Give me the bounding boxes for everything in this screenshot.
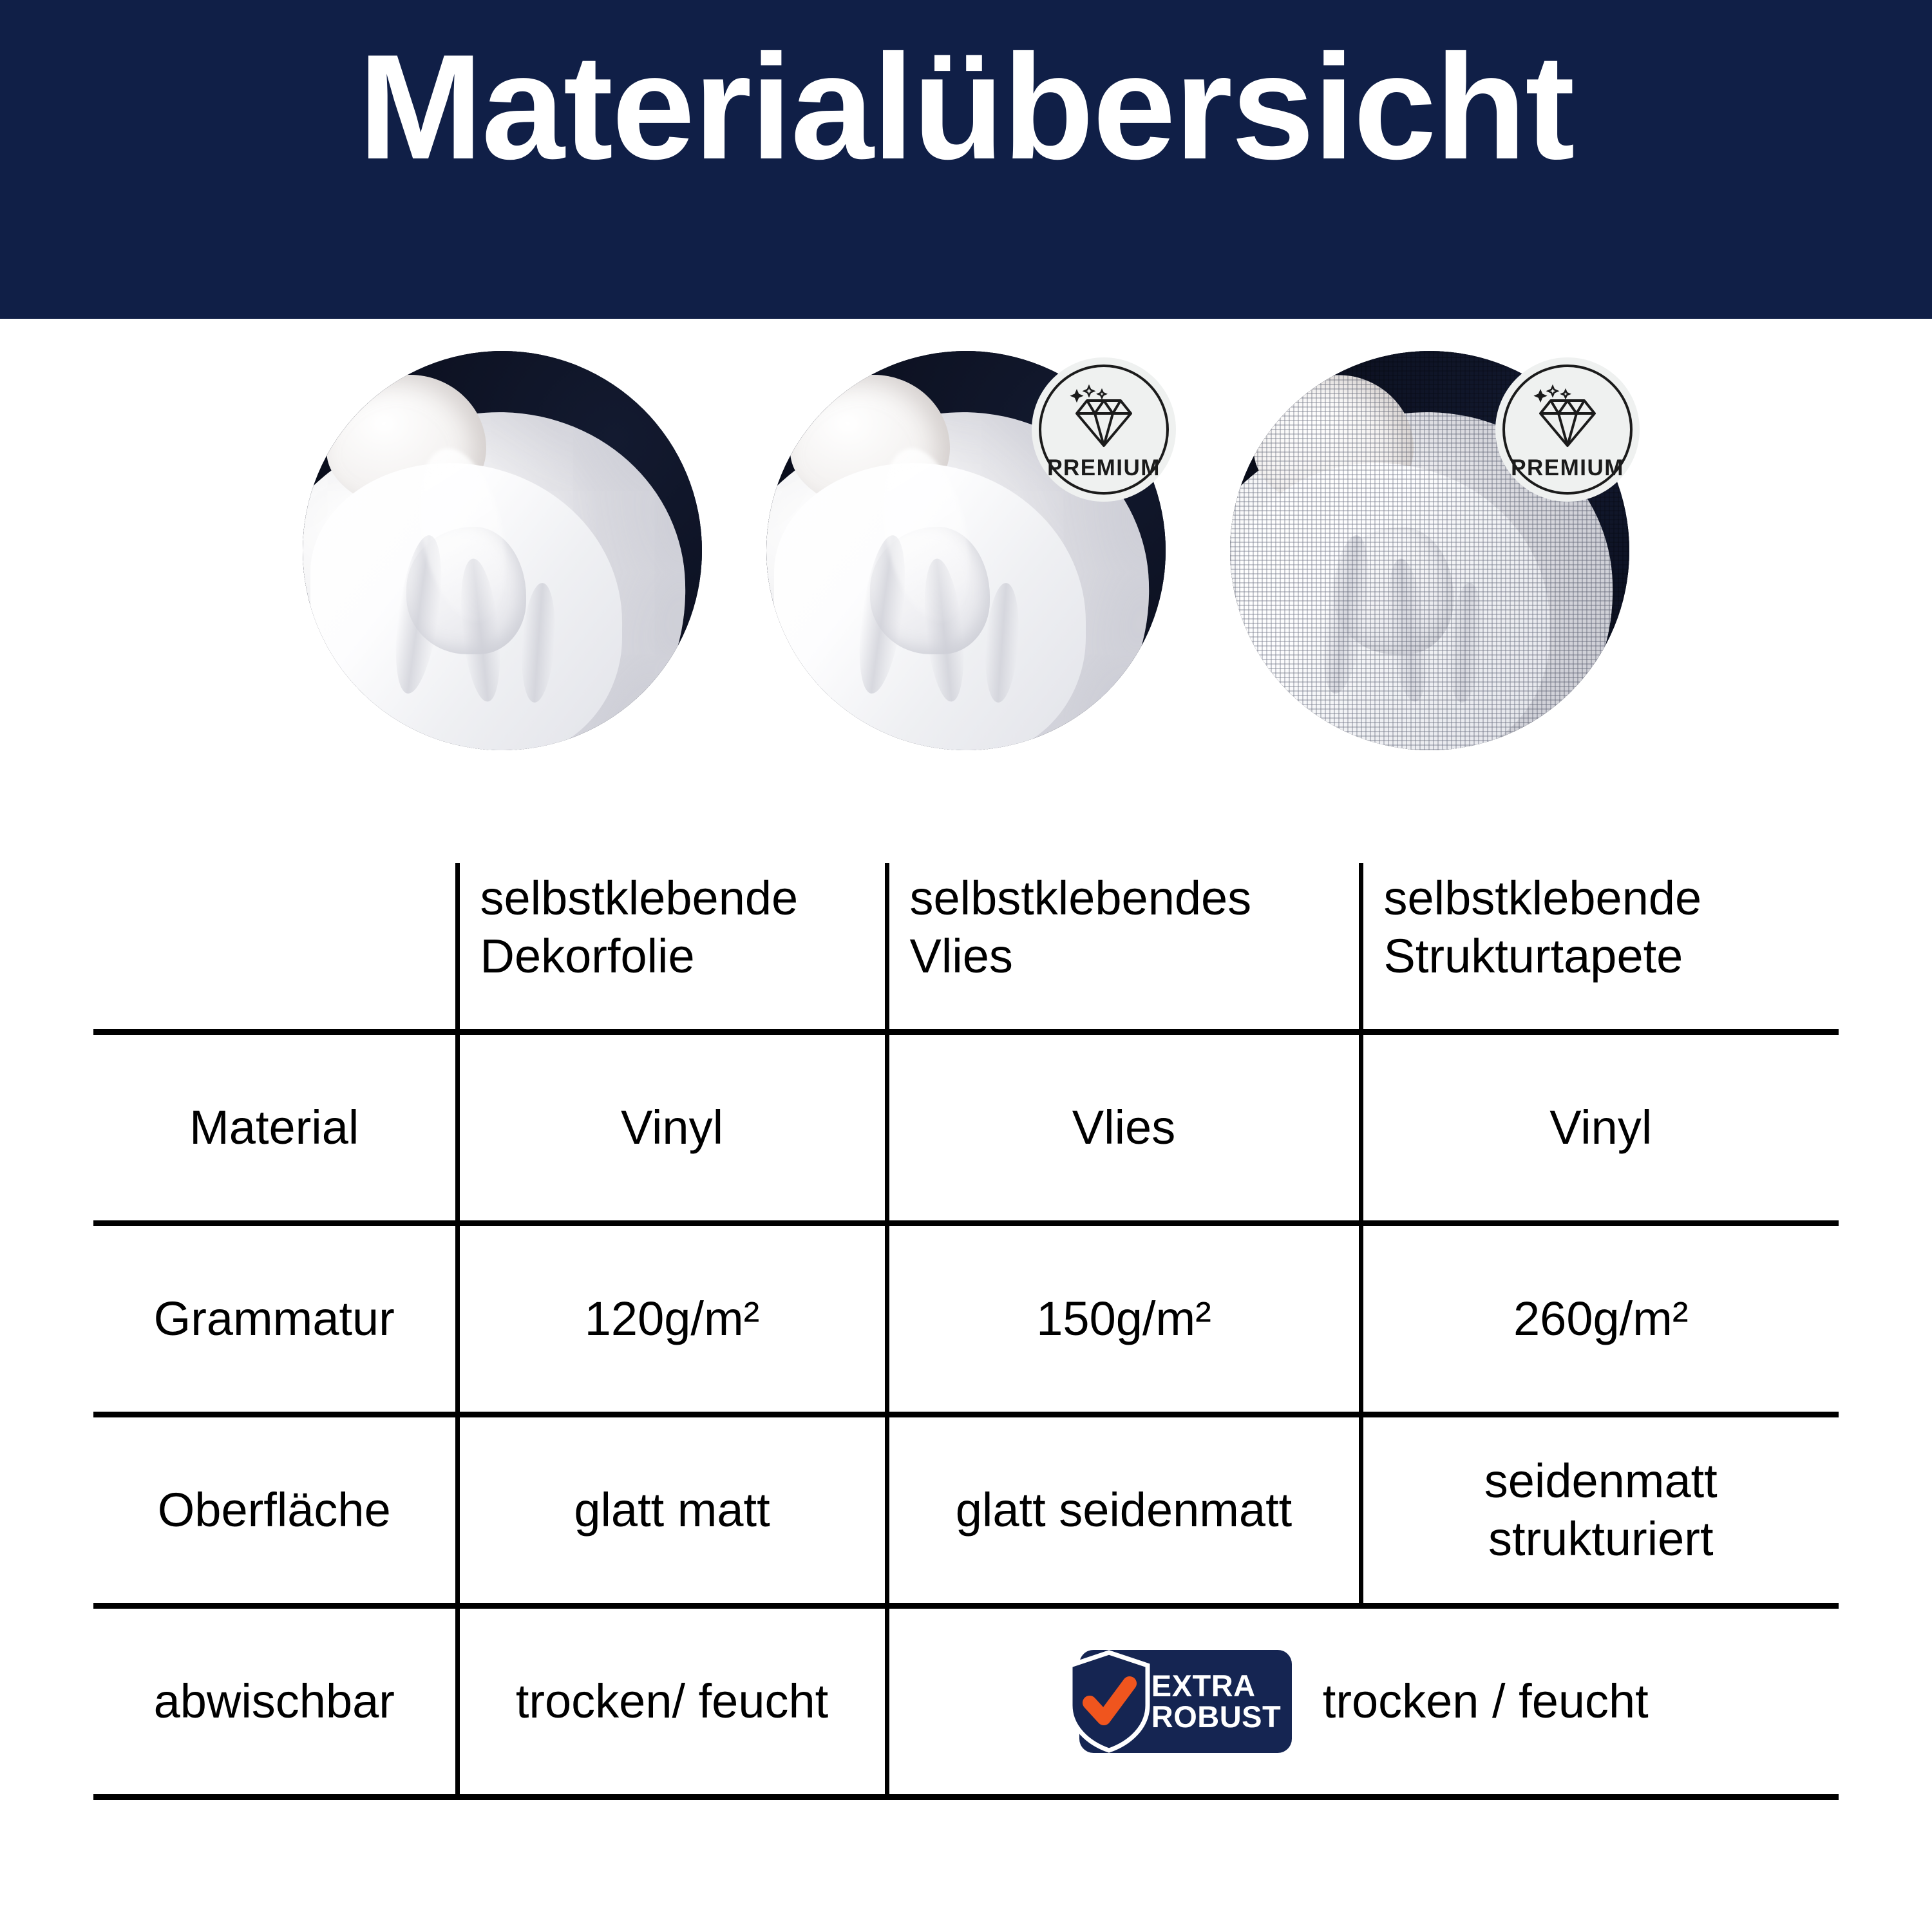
- bottom-rule-c1: [457, 1797, 887, 1801]
- material-comparison-table: selbstklebende Dekorfolie selbstklebende…: [93, 863, 1839, 1800]
- bottom-rule-label: [93, 1797, 457, 1801]
- cell-oberflaeche-dekorfolie: glatt matt: [457, 1415, 887, 1606]
- buddha-figurine-image: [303, 351, 702, 750]
- cell-abwischbar-dekorfolie: trocken/ feucht: [457, 1606, 887, 1797]
- shield-check-icon: [1065, 1650, 1153, 1753]
- table-row-oberflaeche: Oberfläche glatt matt glatt seidenmatt s…: [93, 1415, 1839, 1606]
- row-label-oberflaeche: Oberfläche: [93, 1415, 457, 1606]
- column-header-strukturtapete: selbstklebende Strukturtapete: [1361, 863, 1839, 1032]
- column-header-vlies: selbstklebendes Vlies: [887, 863, 1361, 1032]
- table-row-grammatur: Grammatur 120g/m² 150g/m² 260g/m²: [93, 1224, 1839, 1415]
- premium-badge: PREMIUM: [1495, 357, 1640, 502]
- header-banner: Materialübersicht: [0, 0, 1932, 319]
- table-row-material: Material Vinyl Vlies Vinyl: [93, 1032, 1839, 1224]
- premium-label: PREMIUM: [1047, 457, 1160, 479]
- cell-grammatur-dekorfolie: 120g/m²: [457, 1224, 887, 1415]
- robust-line-1: EXTRA: [1151, 1671, 1281, 1701]
- premium-badge: PREMIUM: [1032, 357, 1176, 502]
- table-header-row: selbstklebende Dekorfolie selbstklebende…: [93, 863, 1839, 1032]
- bottom-rule-c3: [1361, 1797, 1839, 1801]
- cell-abwischbar-value: trocken / feucht: [1323, 1672, 1649, 1730]
- robust-line-2: ROBUST: [1151, 1701, 1281, 1732]
- row-label-grammatur: Grammatur: [93, 1224, 457, 1415]
- material-samples-row: PREMIUM: [0, 351, 1932, 763]
- table-bottom-rule: [93, 1797, 1839, 1801]
- diamond-icon: [1531, 384, 1604, 454]
- bottom-rule-c2: [887, 1797, 1361, 1801]
- row-label-material: Material: [93, 1032, 457, 1224]
- cell-material-vlies: Vlies: [887, 1032, 1361, 1224]
- extra-robust-badge: EXTRA ROBUST: [1079, 1650, 1292, 1753]
- sample-image-dekorfolie: [303, 351, 702, 750]
- premium-label: PREMIUM: [1511, 457, 1624, 479]
- sample-dekorfolie[interactable]: [296, 351, 708, 763]
- cell-grammatur-vlies: 150g/m²: [887, 1224, 1361, 1415]
- cell-material-dekorfolie: Vinyl: [457, 1032, 887, 1224]
- row-label-abwischbar: abwischbar: [93, 1606, 457, 1797]
- table-corner-cell: [93, 863, 457, 1032]
- spec-table: selbstklebende Dekorfolie selbstklebende…: [93, 863, 1839, 1800]
- diamond-icon: [1068, 384, 1140, 454]
- sample-vlies[interactable]: PREMIUM: [760, 351, 1172, 763]
- column-header-dekorfolie: selbstklebende Dekorfolie: [457, 863, 887, 1032]
- cell-oberflaeche-vlies: glatt seidenmatt: [887, 1415, 1361, 1606]
- sample-strukturtapete[interactable]: PREMIUM: [1224, 351, 1636, 763]
- cell-material-strukturtapete: Vinyl: [1361, 1032, 1839, 1224]
- cell-abwischbar-merged: EXTRA ROBUST trocken / feucht: [887, 1606, 1839, 1797]
- page-title: Materialübersicht: [358, 33, 1573, 182]
- cell-oberflaeche-strukturtapete: seidenmatt strukturiert: [1361, 1415, 1839, 1606]
- cell-grammatur-strukturtapete: 260g/m²: [1361, 1224, 1839, 1415]
- table-row-abwischbar: abwischbar trocken/ feucht EXTRA ROBUST: [93, 1606, 1839, 1797]
